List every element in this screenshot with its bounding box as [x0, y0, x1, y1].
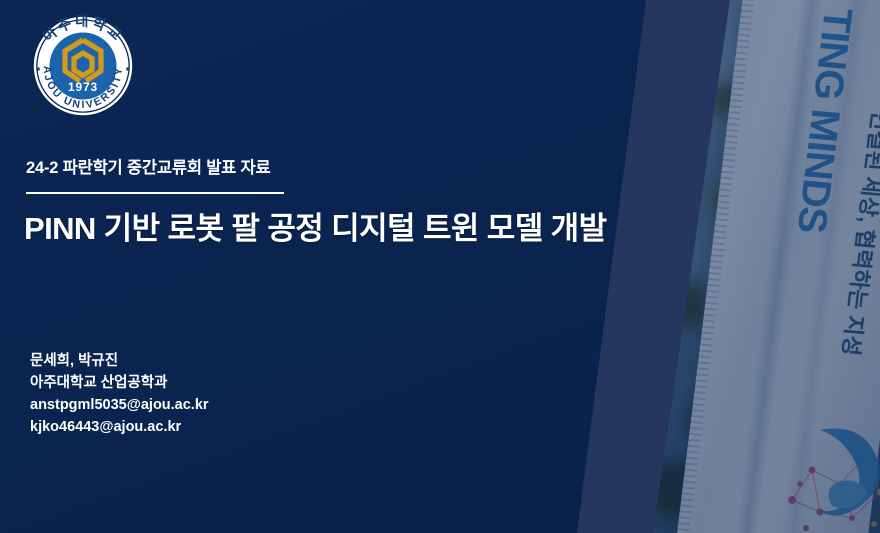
svg-text:1973: 1973 [68, 80, 98, 94]
ajou-university-logo-icon: 아주대학교 AJOU UNIVERSITY 1973 [18, 13, 148, 119]
presentation-title-slide: TING MINDS 연결된 세상, 협력하는 지성 [0, 0, 880, 533]
slide-eyebrow-text: 24-2 파란학기 중간교류회 발표 자료 [26, 154, 271, 178]
author-email-2: kjko46443@ajou.ac.kr [30, 416, 209, 438]
author-names: 문세희, 박규진 [30, 350, 209, 372]
author-email-1: anstpgml5035@ajou.ac.kr [30, 394, 209, 416]
author-info-block: 문세희, 박규진 아주대학교 산업공학과 anstpgml5035@ajou.a… [30, 350, 209, 438]
slide-title: PINN 기반 로봇 팔 공정 디지털 트윈 모델 개발 [24, 203, 607, 248]
author-department: 아주대학교 산업공학과 [30, 372, 209, 394]
title-divider-rule [26, 192, 284, 194]
